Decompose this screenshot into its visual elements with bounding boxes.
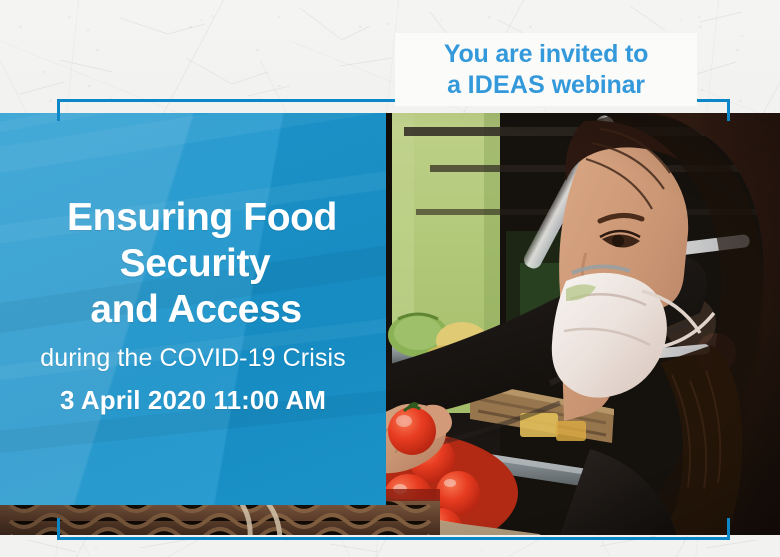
invitation-line-2: a IDEAS webinar [447, 70, 645, 101]
headline-block: Ensuring Food Security and Access during… [0, 113, 386, 505]
invitation-line-1: You are invited to [444, 39, 648, 70]
title-line-1: Ensuring Food [49, 195, 337, 241]
title-line-2: Security [116, 241, 271, 287]
invitation-banner: You are invited to a IDEAS webinar [395, 33, 697, 106]
event-datetime: 3 April 2020 11:00 AM [60, 385, 326, 416]
invitation-suffix: webinar [545, 71, 645, 99]
title-line-3: and Access [84, 287, 301, 333]
invitation-brand: IDEAS [468, 71, 545, 99]
webinar-invitation-poster: Ensuring Food Security and Access during… [0, 0, 780, 557]
event-subtitle: during the COVID-19 Crisis [40, 343, 345, 373]
invitation-prefix: a [447, 71, 467, 99]
